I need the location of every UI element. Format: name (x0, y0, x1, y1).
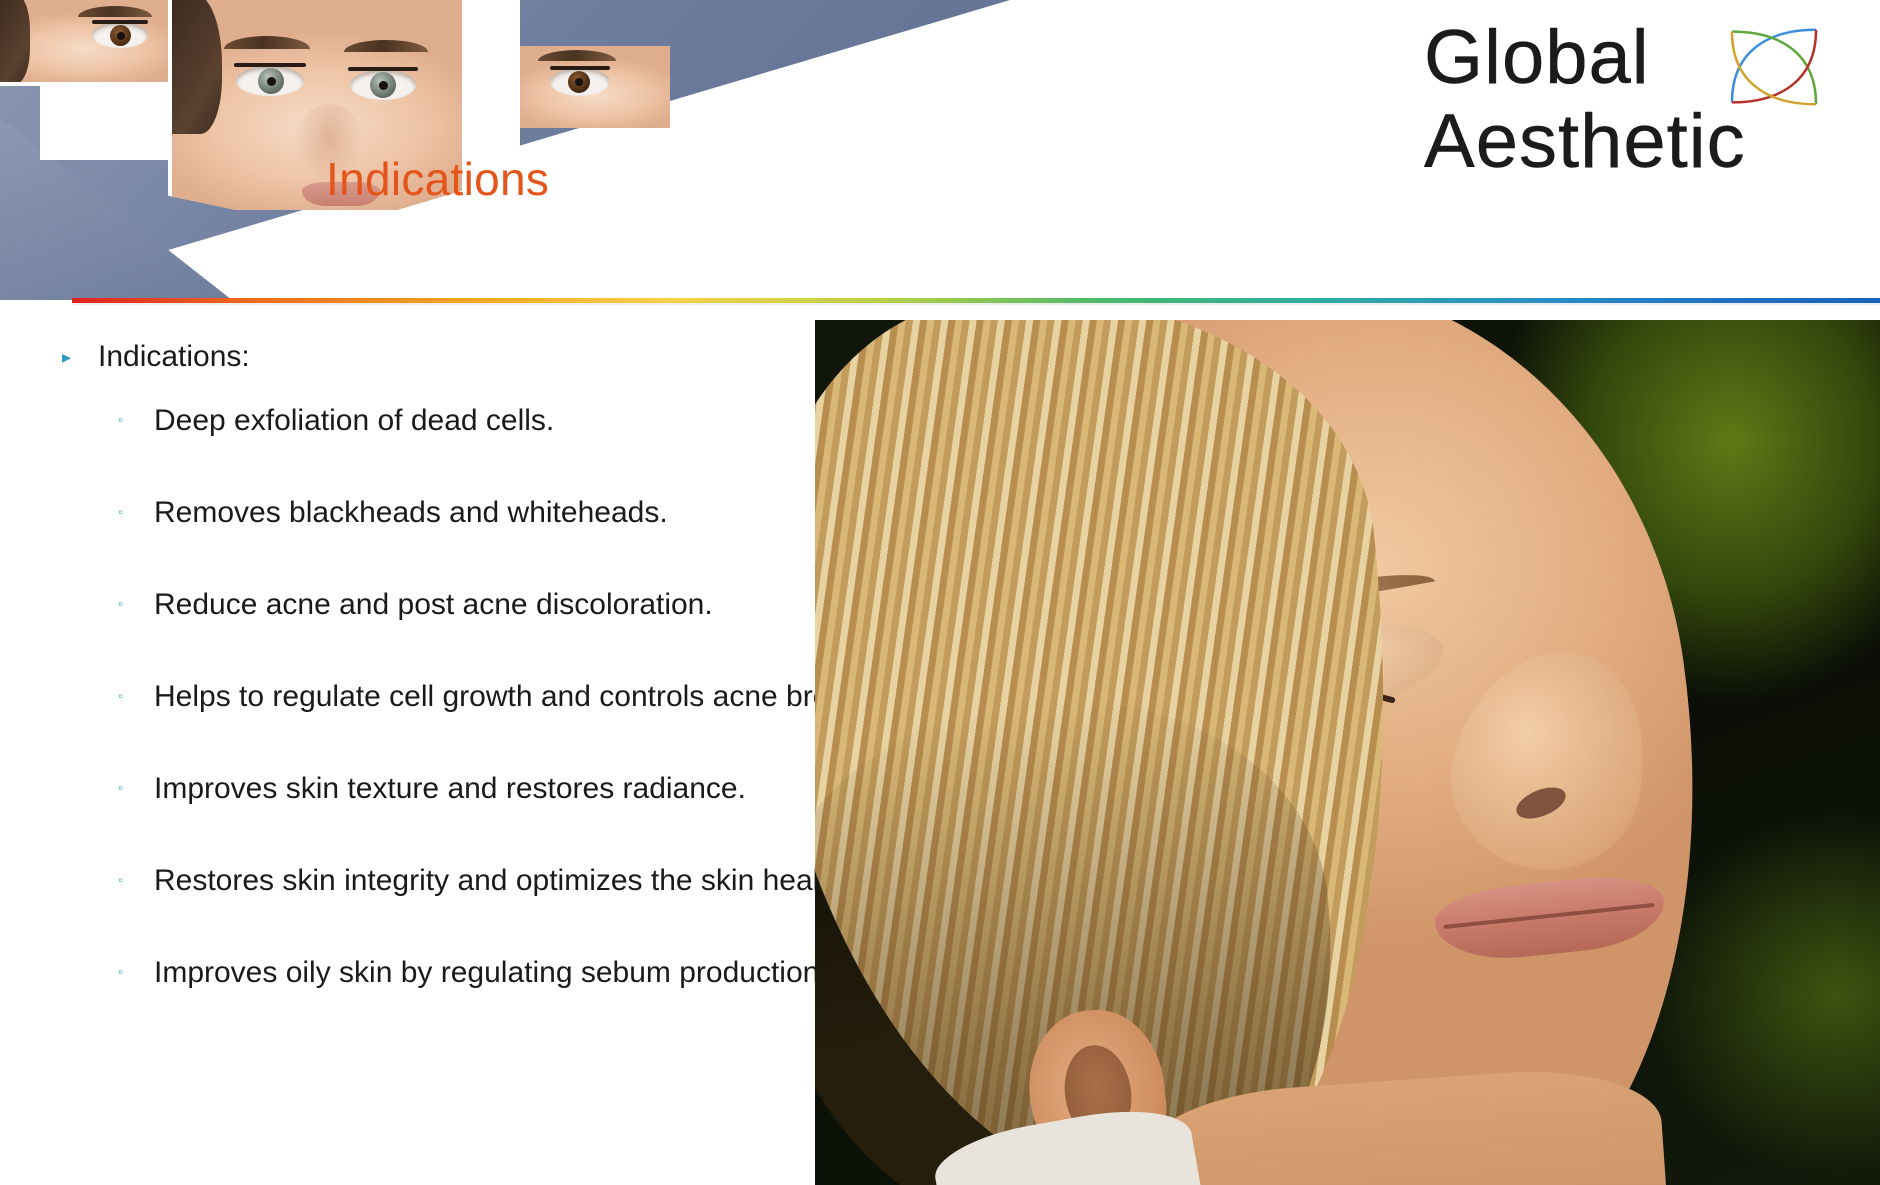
triangle-bullet-icon: ▸ (62, 336, 98, 378)
pupil-shape (117, 32, 125, 40)
eyelash-shape (550, 66, 610, 70)
pupil-shape (575, 78, 583, 86)
eyelash-shape (92, 20, 148, 24)
collage-gap-white-block (40, 86, 172, 160)
list-item-text: Helps to regulate cell growth and contro… (154, 676, 926, 718)
circle-bullet-icon: ◦ (118, 952, 154, 994)
slide-root: Indications Global Aesthetic ▸ Indicatio… (0, 0, 1880, 1185)
lens-petal-logo-mark-icon (1726, 24, 1822, 110)
circle-bullet-icon: ◦ (118, 676, 154, 718)
list-item-text: Removes blackheads and whiteheads. (154, 492, 668, 534)
page-title: Indications (326, 152, 549, 206)
circle-bullet-icon: ◦ (118, 400, 154, 442)
pupil-right-shape (379, 81, 388, 90)
woman-face-tilted-up-sunlight-photo (815, 320, 1880, 1185)
logo-text-aesthetic: Aesthetic (1424, 104, 1746, 180)
brand-logo: Global Aesthetic (1420, 6, 1870, 216)
eyelash-left-shape (234, 63, 306, 67)
list-item-text: Deep exfoliation of dead cells. (154, 400, 554, 442)
circle-bullet-icon: ◦ (118, 584, 154, 626)
divider-shadow (72, 303, 1880, 305)
hair-fill (0, 0, 30, 82)
circle-bullet-icon: ◦ (118, 860, 154, 902)
collage-tile-left-eye (0, 0, 168, 82)
list-item-text: Reduce acne and post acne discoloration. (154, 584, 713, 626)
pupil-left-shape (267, 77, 276, 86)
circle-bullet-icon: ◦ (118, 768, 154, 810)
lead-bullet-text: Indications: (98, 336, 250, 378)
collage-tile-right-eye (520, 46, 670, 128)
list-item-text: Improves skin texture and restores radia… (154, 768, 746, 810)
logo-text-global: Global (1424, 20, 1650, 96)
list-item-text: Restores skin integrity and optimizes th… (154, 860, 853, 902)
circle-bullet-icon: ◦ (118, 492, 154, 534)
eyelash-right-shape (348, 67, 418, 71)
list-item-text: Improves oily skin by regulating sebum p… (154, 952, 828, 994)
hair-fill (172, 0, 222, 134)
